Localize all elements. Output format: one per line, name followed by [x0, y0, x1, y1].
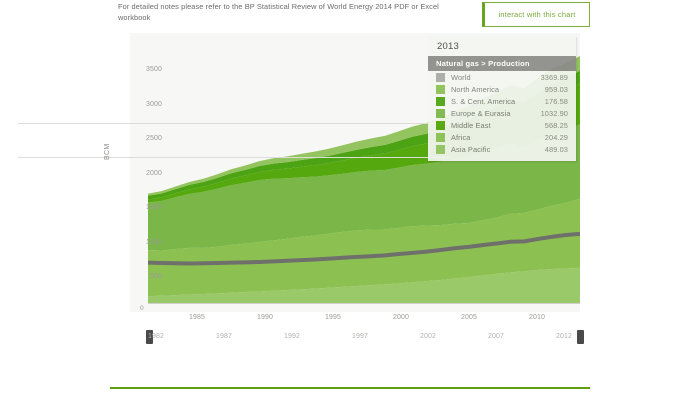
tooltip-series-label: Middle East — [451, 121, 545, 130]
tooltip-series-label: Asia Pacific — [451, 145, 545, 154]
tooltip-row: Middle East568.25 — [428, 119, 576, 131]
tooltip-row-list: World3369.89North America959.03S. & Cent… — [428, 71, 576, 155]
x-tick-2000: 2000 — [381, 314, 421, 321]
tooltip-series-value: 3369.89 — [541, 73, 568, 82]
nav-tick-1987: 1987 — [204, 333, 244, 340]
y-tick-3500: 3500 — [128, 66, 162, 73]
legend-swatch-icon — [436, 97, 445, 106]
x-axis-origin-label: 0 — [140, 305, 144, 312]
y-axis-title: BCM — [104, 144, 111, 160]
tooltip-series-value: 568.25 — [545, 121, 568, 130]
nav-tick-1992: 1992 — [272, 333, 312, 340]
legend-swatch-icon — [436, 133, 445, 142]
y-tick-1500: 1500 — [128, 204, 162, 211]
x-tick-1985: 1985 — [177, 314, 217, 321]
x-tick-1990: 1990 — [245, 314, 285, 321]
x-tick-2010: 2010 — [517, 314, 557, 321]
legend-swatch-icon — [436, 109, 445, 118]
legend-swatch-icon — [436, 85, 445, 94]
tooltip-series-label: North America — [451, 85, 545, 94]
tooltip-row: Africa204.29 — [428, 131, 576, 143]
detailed-notes-text: For detailed notes please refer to the B… — [118, 2, 458, 23]
tooltip-series-value: 176.58 — [545, 97, 568, 106]
interact-with-chart-button[interactable]: interact with this chart — [482, 2, 590, 27]
tooltip-row: S. & Cent. America176.58 — [428, 95, 576, 107]
nav-tick-1982: 1982 — [136, 333, 176, 340]
y-tick-1000: 1000 — [128, 239, 162, 246]
x-tick-2005: 2005 — [449, 314, 489, 321]
y-tick-500: 500 — [128, 273, 162, 280]
tooltip-series-value: 204.29 — [545, 133, 568, 142]
tooltip-row: North America959.03 — [428, 83, 576, 95]
tooltip-series-value: 489.03 — [545, 145, 568, 154]
footer-divider — [110, 387, 590, 389]
tooltip-header: Natural gas > Production — [428, 56, 576, 71]
header-note-row: For detailed notes please refer to the B… — [118, 2, 590, 30]
tooltip-series-value: 959.03 — [545, 85, 568, 94]
x-tick-1995: 1995 — [313, 314, 353, 321]
range-navigator[interactable]: 1982 1987 1992 1997 2002 2007 2012 — [148, 330, 580, 344]
nav-tick-2012: 2012 — [544, 333, 584, 340]
tooltip-row: Asia Pacific489.03 — [428, 143, 576, 155]
tooltip-series-value: 1032.90 — [541, 109, 568, 118]
nav-tick-1997: 1997 — [340, 333, 380, 340]
nav-tick-2007: 2007 — [476, 333, 516, 340]
nav-tick-2002: 2002 — [408, 333, 448, 340]
gridline-2000 — [18, 157, 450, 158]
x-axis-line — [148, 303, 580, 304]
y-tick-2000: 2000 — [128, 170, 162, 177]
y-tick-3000: 3000 — [128, 101, 162, 108]
tooltip-series-label: Europe & Eurasia — [451, 109, 541, 118]
tooltip-series-label: Africa — [451, 133, 545, 142]
gridline-2500 — [18, 123, 450, 124]
legend-swatch-icon — [436, 73, 445, 82]
tooltip-row: Europe & Eurasia1032.90 — [428, 107, 576, 119]
y-tick-2500: 2500 — [128, 135, 162, 142]
legend-swatch-icon — [436, 145, 445, 154]
tooltip-row: World3369.89 — [428, 71, 576, 83]
tooltip-series-label: World — [451, 73, 541, 82]
legend-swatch-icon — [436, 121, 445, 130]
chart-tooltip: 2013 Natural gas > Production World3369.… — [428, 36, 576, 161]
tooltip-series-label: S. & Cent. America — [451, 97, 545, 106]
tooltip-year: 2013 — [428, 36, 576, 56]
